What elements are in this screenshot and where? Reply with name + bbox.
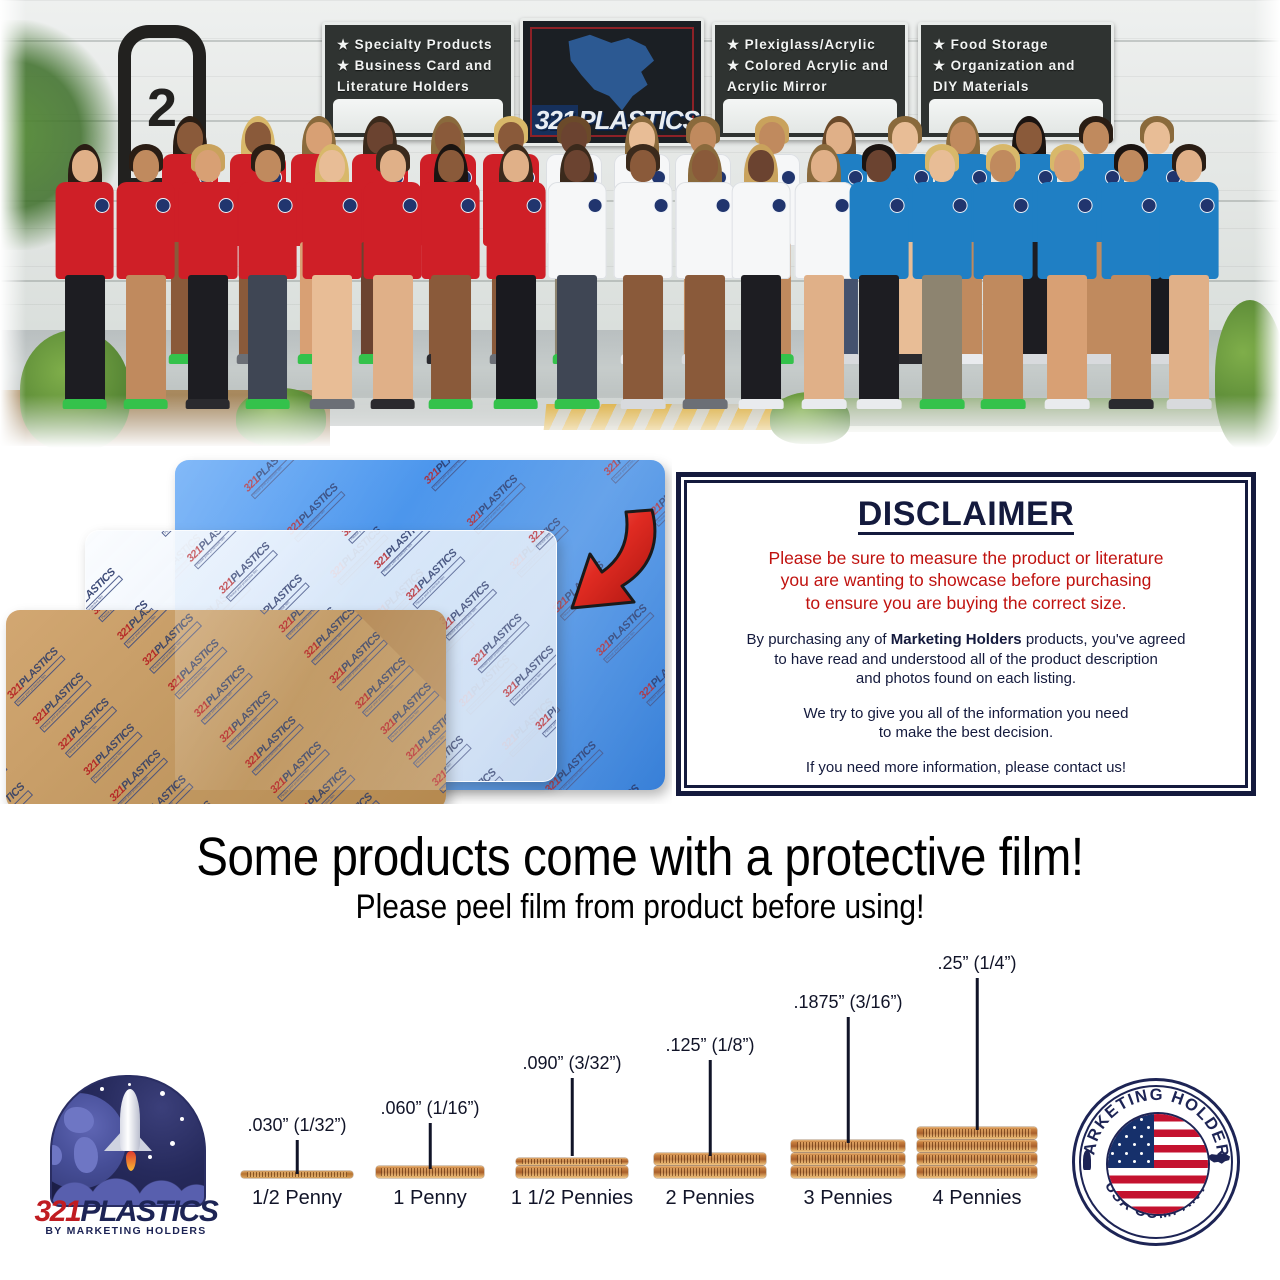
head (990, 150, 1016, 182)
head (866, 150, 892, 182)
head (438, 150, 464, 182)
penny-coin (917, 1153, 1037, 1165)
sign-text: ★ Specialty Products ★ Business Card and… (337, 35, 499, 98)
staff-member (1160, 148, 1219, 420)
head (1118, 150, 1144, 182)
shoes (245, 399, 290, 409)
legs (1047, 275, 1087, 405)
usa-flag-icon (1106, 1112, 1210, 1216)
disclaimer-paragraph-3: If you need more information, please con… (707, 758, 1225, 778)
shirt-logo-icon (343, 198, 358, 213)
disclaimer-box: DISCLAIMER Please be sure to measure the… (676, 472, 1256, 796)
penny-coin (791, 1153, 905, 1165)
shirt (614, 182, 673, 279)
sign-text: ★ Plexiglass/Acrylic ★ Colored Acrylic a… (727, 35, 893, 98)
penny-category-label: 1 1/2 Pennies (511, 1187, 633, 1210)
staff-member (913, 148, 972, 420)
sign-text: ★ Food Storage ★ Organization and DIY Ma… (933, 35, 1099, 98)
penny-stack (516, 1157, 628, 1178)
legs (431, 275, 471, 405)
shirt-logo-icon (461, 198, 476, 213)
logo-word-321: 321 (34, 1195, 80, 1228)
head (380, 150, 406, 182)
penny-column: 2 Pennies.125” (1/8”) (640, 960, 780, 1210)
legs (248, 275, 288, 405)
head (811, 150, 837, 182)
shoes (981, 399, 1026, 409)
shirt (795, 182, 854, 279)
penny-category-label: 3 Pennies (804, 1187, 893, 1210)
penny-column: 1 Penny.060” (1/16”) (360, 960, 500, 1210)
shoes (920, 399, 965, 409)
penny-column: 1/2 Penny.030” (1/32”) (227, 960, 367, 1210)
shirt-logo-icon (771, 198, 786, 213)
staff-member (363, 148, 422, 420)
shirt-logo-icon (156, 198, 171, 213)
photo-right-fade (1254, 0, 1280, 455)
penny-column: 4 Pennies.25” (1/4”) (907, 960, 1047, 1210)
logo-tagline: BY MARKETING HOLDERS (28, 1225, 224, 1237)
legs (496, 275, 536, 405)
legs (312, 275, 352, 405)
penny-coin (654, 1166, 766, 1178)
shoes (185, 399, 230, 409)
shirt-logo-icon (218, 198, 233, 213)
shoes (621, 399, 666, 409)
shirt-logo-icon (654, 198, 669, 213)
staff-member (486, 148, 545, 420)
shirt (913, 182, 972, 279)
shirt (363, 182, 422, 279)
shirt (116, 182, 175, 279)
watermark-mark: 321PLASTICSPlease peel protective film (422, 460, 483, 492)
legs (922, 275, 962, 405)
shirt-logo-icon (889, 198, 904, 213)
para1-bold-brand: Marketing Holders (891, 631, 1022, 648)
shirt (850, 182, 909, 279)
staff-member (614, 148, 673, 420)
penny-stack (917, 1126, 1037, 1178)
legs (685, 275, 725, 405)
staff-member (731, 148, 790, 420)
head (564, 150, 590, 182)
staff-member (116, 148, 175, 420)
shirt-logo-icon (403, 198, 418, 213)
shirt (238, 182, 297, 279)
headline-primary: Some products come with a protective fil… (77, 826, 1203, 888)
head (692, 150, 718, 182)
watermark-mark: 321PLASTICSPlease peel protective film (527, 530, 557, 551)
watermark-mark: 321PLASTICSPlease peel protective film (586, 783, 647, 790)
legs (65, 275, 105, 405)
badge-rocket-icon (1083, 1150, 1091, 1170)
head (630, 150, 656, 182)
legs (1169, 275, 1209, 405)
headline-secondary: Please peel film from product before usi… (77, 888, 1203, 927)
watermark-mark: 321PLASTICSPlease peel protective film (6, 782, 33, 804)
shirt (731, 182, 790, 279)
shirt (1159, 182, 1218, 279)
legs (741, 275, 781, 405)
watermark-mark: 321PLASTICSPlease peel protective film (501, 645, 557, 706)
watermark-mark: 321PLASTICSPlease peel protective film (443, 767, 504, 782)
penny-coin (917, 1166, 1037, 1178)
penny-category-label: 1 Penny (393, 1187, 466, 1210)
head (319, 150, 345, 182)
shirt (974, 182, 1033, 279)
logo-wordmark: 321PLASTICS (28, 1197, 224, 1227)
shirt-logo-icon (1013, 198, 1028, 213)
legs (188, 275, 228, 405)
staff-member (238, 148, 297, 420)
penny-leader-line (847, 1017, 850, 1143)
shirt-logo-icon (1142, 198, 1157, 213)
head (1054, 150, 1080, 182)
shirt (55, 182, 114, 279)
watermark-mark: 321PLASTICSPlease peel protective film (469, 613, 530, 674)
rocket-icon (120, 1089, 140, 1151)
shirt (1102, 182, 1161, 279)
staff-member (850, 148, 909, 420)
staff-member (55, 148, 114, 420)
penny-measure-label: .060” (1/16”) (380, 1098, 479, 1119)
penny-measure-label: .25” (1/4”) (937, 953, 1016, 974)
logo-word-plastics: PLASTICS (80, 1195, 217, 1228)
legs (859, 275, 899, 405)
shirt-logo-icon (1078, 198, 1093, 213)
staff-member (676, 148, 735, 420)
staff-member (795, 148, 854, 420)
penny-leader-line (709, 1060, 712, 1156)
shirt-logo-icon (715, 198, 730, 213)
photo-left-fade (0, 0, 26, 455)
watermark-mark: 321PLASTICSPlease peel protective film (372, 530, 433, 576)
watermark-mark: 321PLASTICSPlease peel protective film (534, 677, 557, 738)
penny-stack (791, 1139, 905, 1178)
shoes (857, 399, 902, 409)
watermark-mark: 321PLASTICSPlease peel protective film (217, 541, 278, 602)
penny-category-label: 1/2 Penny (252, 1187, 342, 1210)
shirt (548, 182, 607, 279)
penny-leader-line (976, 978, 979, 1130)
shirt-logo-icon (95, 198, 110, 213)
shoes (370, 399, 415, 409)
team-photo-banner: 2 ★ Specialty Products ★ Business Card a… (0, 0, 1280, 455)
legs (623, 275, 663, 405)
kraft-film-sheet: 321PLASTICSPlease peel protective film32… (6, 610, 446, 804)
shirt (303, 182, 362, 279)
staff-member (421, 148, 480, 420)
shirt-logo-icon (278, 198, 293, 213)
shoes (1045, 399, 1090, 409)
shoes (683, 399, 728, 409)
head (255, 150, 281, 182)
staff-member (1038, 148, 1097, 420)
marketing-holders-badge: MARKETING HOLDERS USA COMPANY (1072, 1078, 1240, 1246)
penny-measure-label: .125” (1/8”) (665, 1035, 754, 1056)
shoes (739, 399, 784, 409)
para1-before: By purchasing any of (747, 631, 891, 648)
penny-measure-label: .030” (1/32”) (247, 1115, 346, 1136)
peel-arrow-icon (556, 498, 666, 623)
penny-column: 1 1/2 Pennies.090” (3/32”) (502, 960, 642, 1210)
head (503, 150, 529, 182)
shirt-logo-icon (953, 198, 968, 213)
shirt-logo-icon (835, 198, 850, 213)
shirt-logo-icon (588, 198, 603, 213)
staff-member (1102, 148, 1161, 420)
penny-measure-label: .1875” (3/16”) (793, 992, 902, 1013)
shirt (178, 182, 237, 279)
disclaimer-paragraph-2: We try to give you all of the informatio… (707, 704, 1225, 743)
staff-member (303, 148, 362, 420)
head (72, 150, 98, 182)
staff-member (178, 148, 237, 420)
disclaimer-paragraph-1: By purchasing any of Marketing Holders p… (707, 630, 1225, 689)
staff-member (548, 148, 607, 420)
disclaimer-red-warning: Please be sure to measure the product or… (707, 547, 1225, 614)
watermark-mark: 321PLASTICSPlease peel protective film (602, 460, 663, 484)
penny-category-label: 2 Pennies (666, 1187, 755, 1210)
head (195, 150, 221, 182)
penny-coin (917, 1140, 1037, 1152)
watermark-mark: 321PLASTICSPlease peel protective film (404, 548, 465, 609)
penny-leader-line (296, 1140, 299, 1174)
shoes (555, 399, 600, 409)
shoes (1109, 399, 1154, 409)
head (929, 150, 955, 182)
legs (373, 275, 413, 405)
watermark-mark: 321PLASTICSPlease peel protective film (185, 530, 246, 570)
penny-coin (791, 1166, 905, 1178)
321plastics-logo: 321PLASTICS BY MARKETING HOLDERS (28, 1075, 224, 1245)
shoes (802, 399, 847, 409)
penny-leader-line (571, 1078, 574, 1156)
shoes (1167, 399, 1212, 409)
shoes (428, 399, 473, 409)
legs (1111, 275, 1151, 405)
legs (804, 275, 844, 405)
peeled-corner (354, 610, 446, 702)
shirt-logo-icon (526, 198, 541, 213)
head (133, 150, 159, 182)
head (748, 150, 774, 182)
shirt (486, 182, 545, 279)
penny-category-label: 4 Pennies (933, 1187, 1022, 1210)
disclaimer-title: DISCLAIMER (858, 497, 1075, 535)
shoes (62, 399, 107, 409)
shoes (310, 399, 355, 409)
penny-column: 3 Pennies.1875” (3/16”) (778, 960, 918, 1210)
legs (983, 275, 1023, 405)
legs (557, 275, 597, 405)
penny-coin (516, 1158, 628, 1165)
penny-leader-line (429, 1123, 432, 1169)
shirt (421, 182, 480, 279)
watermark-mark: 321PLASTICSPlease peel protective film (242, 460, 303, 500)
logo-space-dome (50, 1075, 206, 1207)
head (1176, 150, 1202, 182)
penny-coin (516, 1166, 628, 1178)
staff-member (974, 148, 1033, 420)
shoes (123, 399, 168, 409)
shoes (493, 399, 538, 409)
shirt-logo-icon (1199, 198, 1214, 213)
shirt (1038, 182, 1097, 279)
watermark-mark: 321PLASTICSPlease peel protective film (637, 646, 665, 707)
watermark-mark: 321PLASTICSPlease peel protective film (465, 474, 526, 535)
penny-measure-label: .090” (3/32”) (522, 1053, 621, 1074)
legs (126, 275, 166, 405)
shirt (676, 182, 735, 279)
